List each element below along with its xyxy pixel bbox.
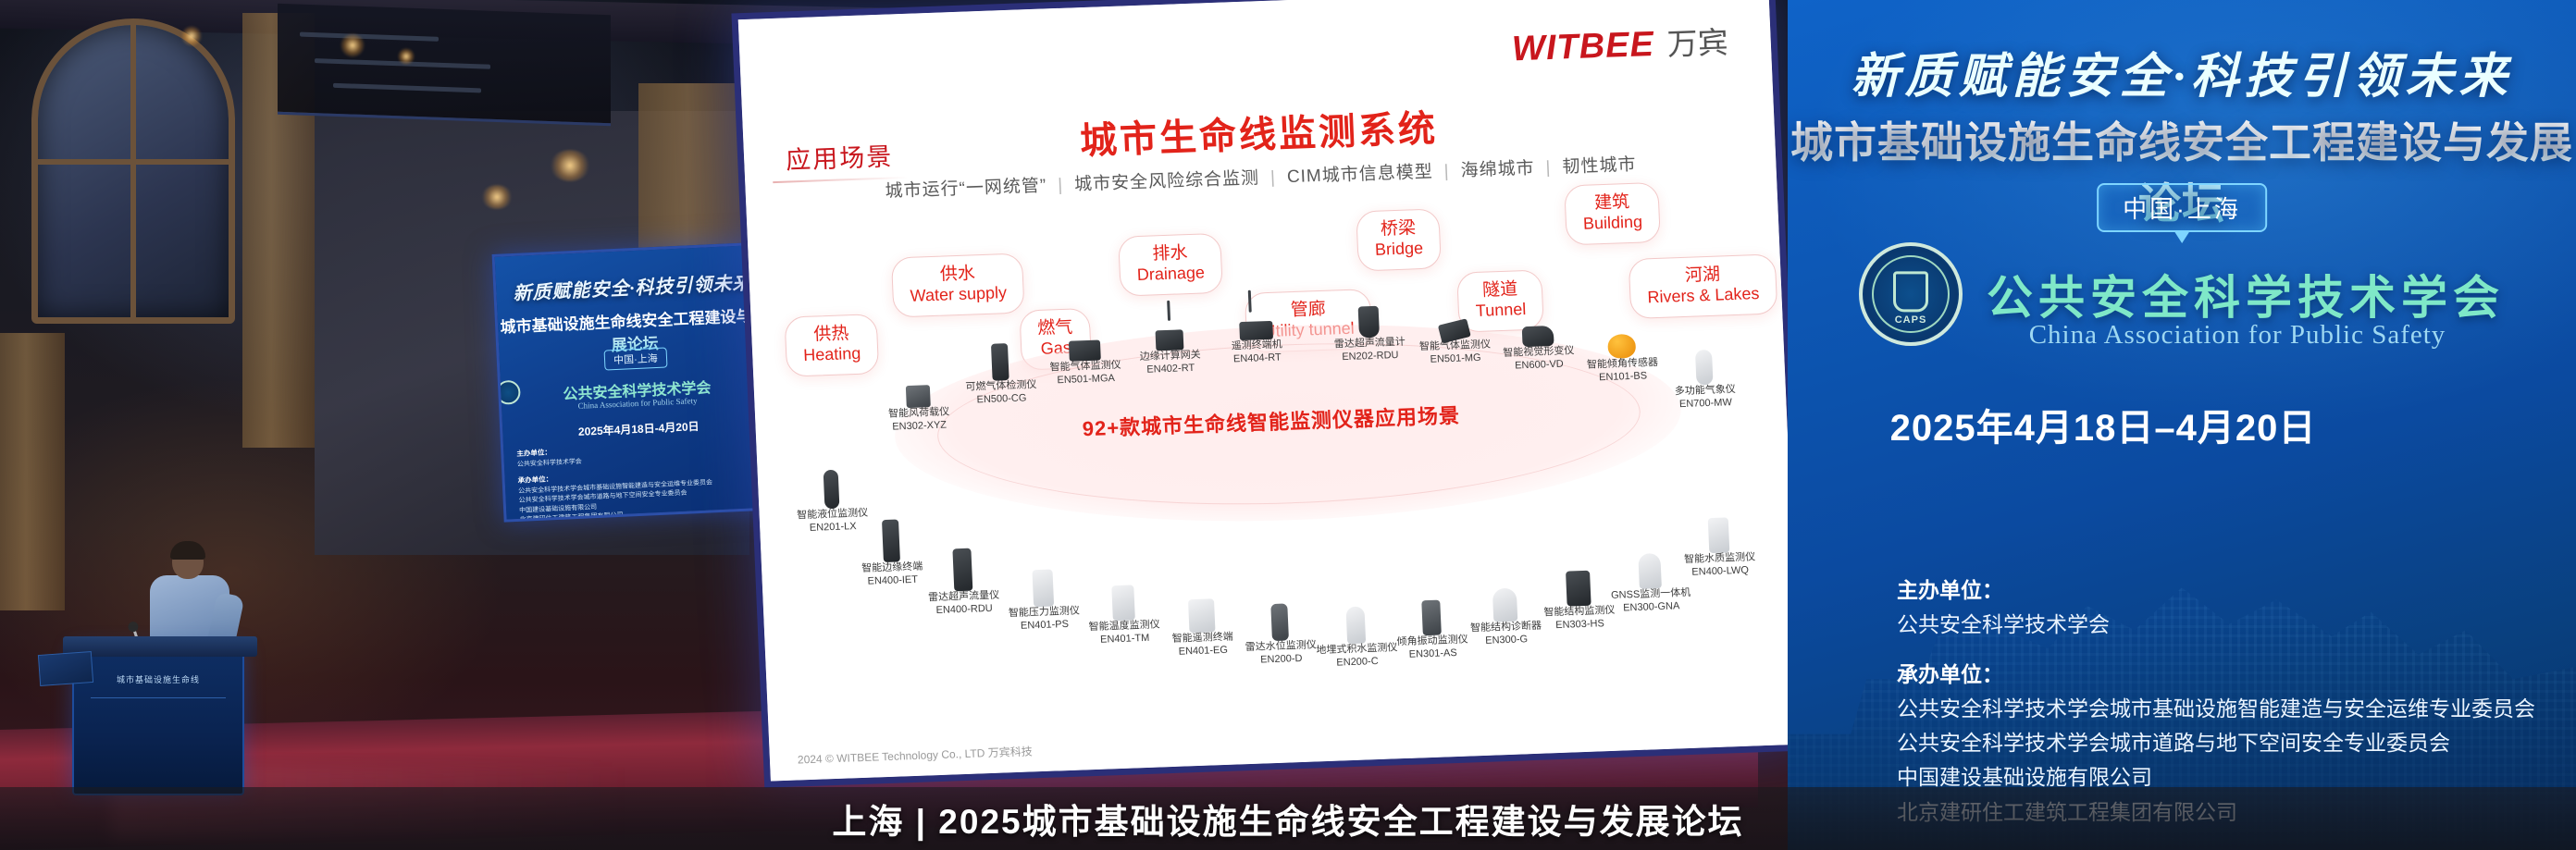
device-item: 遥测终端机 EN404-RT: [1200, 288, 1312, 367]
mini-host-label: 主办单位：: [516, 448, 551, 458]
bubble-label-cn: 排水: [1136, 242, 1205, 265]
podium-top: [63, 636, 257, 657]
kv-host-item: 公共安全科学技术学会: [1897, 608, 2539, 642]
witbee-logo: WITBEE 万宾: [1511, 18, 1729, 69]
subtitle-part: 城市运行“一网统管”: [885, 176, 1046, 201]
bubble-label-cn: 桥梁: [1374, 218, 1423, 240]
bubble-label-cn: 供热: [802, 324, 861, 347]
bubble-label-en: Water supply: [910, 284, 1007, 307]
device-model: EN303-HS: [1525, 617, 1635, 634]
device-model: EN400-LWQ: [1666, 563, 1776, 580]
bubble-label-cn: 建筑: [1582, 192, 1642, 216]
podium-logo-text: 城市基础设施生命线: [74, 673, 242, 685]
bubble-label-en: Drainage: [1137, 264, 1206, 286]
main-led-screen: WITBEE 万宾 应用场景 城市生命线监测系统 城市运行“一网统管”|城市安全…: [731, 0, 1807, 788]
kv-coorganizer-label: 承办单位：: [1897, 658, 2539, 692]
kv-organization-en: China Association for Public Safety: [1788, 320, 2576, 351]
speaker-hair: [170, 541, 205, 560]
led-screen-inner: WITBEE 万宾 应用场景 城市生命线监测系统 城市运行“一网统管”|城市安全…: [738, 0, 1802, 782]
category-bubble-drainage[interactable]: 排水 Drainage: [1118, 233, 1223, 297]
subtitle-part: CIM城市信息模型: [1287, 163, 1434, 188]
secondary-led-banner: 新质赋能安全·科技引领未来 城市基础设施生命线安全工程建设与发展论坛 中国·上海…: [492, 241, 782, 522]
bottom-caption-bar: 上海 | 2025城市基础设施生命线安全工程建设与发展论坛: [0, 787, 2576, 850]
device-model: EN300-G: [1452, 633, 1562, 649]
podium: 城市基础设施生命线: [72, 647, 244, 795]
kv-calligraphy-title: 新质赋能安全·科技引领未来: [1788, 37, 2576, 106]
slide-footer: 2024 © WITBEE Technology Co., LTD 万宾科技: [798, 743, 1033, 767]
seal-shield-icon: [1893, 271, 1928, 312]
subtitle-part: 城市安全风险综合监测: [1074, 168, 1260, 194]
spotlight: [481, 185, 513, 209]
kv-location-chip: 中国·上海: [2097, 183, 2267, 232]
kv-event-date: 2025年4月18日–4月20日: [1788, 398, 2576, 451]
spotlight: [550, 150, 590, 181]
bubble-label-en: Building: [1583, 213, 1643, 235]
subtitle-part: 韧性城市: [1562, 155, 1637, 178]
category-bubble-water-supply[interactable]: 供水 Water supply: [891, 253, 1025, 317]
conference-stage-photo: 城市基础设施生命线 新质赋能安全·科技引领未来 城市基础设施生命线安全工程建设与…: [0, 0, 2576, 850]
category-bubble-bridge[interactable]: 桥梁 Bridge: [1356, 208, 1442, 271]
bubble-label-en: Heating: [803, 344, 861, 365]
device-model: EN301-AS: [1378, 647, 1488, 663]
arched-window: [31, 18, 235, 324]
mini-coorganizer-label: 承办单位：: [517, 474, 552, 485]
category-bubble-building[interactable]: 建筑 Building: [1564, 182, 1661, 245]
kv-host-label: 主办单位：: [1897, 573, 2539, 608]
mini-banner-credits: 主办单位： 公共安全科学技术学会 承办单位： 公共安全科学技术学会城市基础设施智…: [516, 437, 766, 523]
bubble-label-en: Bridge: [1375, 239, 1424, 260]
device-item: 多功能气象仪 EN700-MW: [1648, 333, 1760, 413]
spotlight: [341, 33, 365, 57]
lighting-truss: [278, 4, 611, 127]
spotlight: [181, 26, 202, 46]
podium-divider: [91, 697, 226, 698]
kv-organization-cn: 公共安全科学技术学会: [1987, 261, 2505, 327]
device-item: 智能水质监测仪 EN400-LWQ: [1663, 501, 1775, 581]
laptop: [38, 651, 93, 686]
key-visual-panel: 新质赋能安全·科技引领未来 城市基础设施生命线安全工程建设与发展论坛 中国·上海…: [1788, 0, 2576, 850]
caption-text: 上海 | 2025城市基础设施生命线安全工程建设与发展论坛: [832, 794, 1743, 844]
kv-coorganizer-item: 公共安全科学技术学会城市道路与地下空间安全专业委员会: [1897, 726, 2539, 760]
wall-panel-far-left: [0, 333, 65, 610]
mini-banner-location-chip: 中国·上海: [604, 348, 668, 371]
witbee-logo-cn: 万宾: [1666, 18, 1729, 64]
presentation-slide: WITBEE 万宾 应用场景 城市生命线监测系统 城市运行“一网统管”|城市安全…: [738, 0, 1802, 782]
bubble-label-en: Rivers & Lakes: [1647, 284, 1760, 308]
kv-coorganizer-item: 公共安全科学技术学会城市基础设施智能建造与安全运维专业委员会: [1897, 692, 2539, 726]
witbee-logo-latin: WITBEE: [1511, 25, 1655, 69]
spotlight: [398, 48, 415, 65]
subtitle-part: 海绵城市: [1460, 159, 1535, 181]
